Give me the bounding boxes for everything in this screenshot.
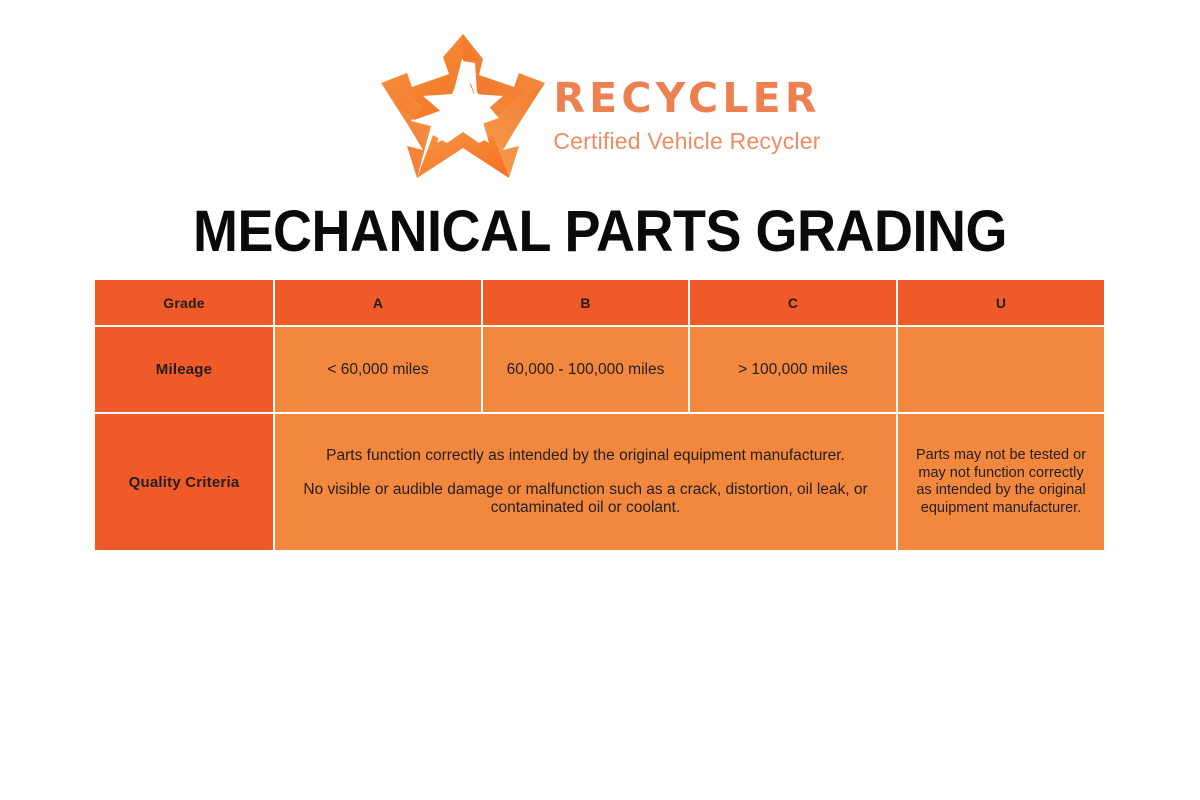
mileage-grade-u [898, 327, 1104, 414]
mechanical-parts-grading-table: Grade A B C U Mileage < 60,000 miles 60,… [95, 280, 1104, 550]
table-row-quality-criteria: Quality Criteria Parts function correctl… [95, 414, 1104, 550]
table-header-row: Grade A B C U [95, 280, 1104, 327]
quality-criteria-u: Parts may not be tested or may not funct… [898, 414, 1104, 550]
logo-tagline: Certified Vehicle Recycler [553, 128, 820, 156]
page-title: MECHANICAL PARTS GRADING [42, 196, 1158, 268]
column-header-a: A [275, 280, 483, 327]
column-header-b: B [483, 280, 690, 327]
quality-criteria-paragraph-1: Parts function correctly as intended by … [299, 447, 872, 465]
logo-text-block: RECYCLER Certified Vehicle Recycler [553, 56, 820, 156]
column-header-c: C [690, 280, 898, 327]
quality-criteria-abc: Parts function correctly as intended by … [275, 414, 898, 550]
mileage-grade-a: < 60,000 miles [275, 327, 483, 414]
row-label-quality-criteria: Quality Criteria [95, 414, 275, 550]
mileage-grade-c: > 100,000 miles [690, 327, 898, 414]
table-row-mileage: Mileage < 60,000 miles 60,000 - 100,000 … [95, 327, 1104, 414]
logo-inner: RECYCLER Certified Vehicle Recycler [379, 30, 820, 182]
quality-criteria-u-text: Parts may not be tested or may not funct… [898, 447, 1104, 517]
quality-criteria-abc-text: Parts function correctly as intended by … [275, 447, 896, 517]
column-header-grade: Grade [95, 280, 275, 327]
logo-wordmark: RECYCLER [553, 78, 820, 119]
mileage-grade-b: 60,000 - 100,000 miles [483, 327, 690, 414]
column-header-u: U [898, 280, 1104, 327]
row-label-mileage: Mileage [95, 327, 275, 414]
quality-criteria-paragraph-2: No visible or audible damage or malfunct… [299, 481, 872, 517]
recycling-star-icon [379, 30, 547, 182]
brand-logo: RECYCLER Certified Vehicle Recycler [0, 28, 1200, 183]
